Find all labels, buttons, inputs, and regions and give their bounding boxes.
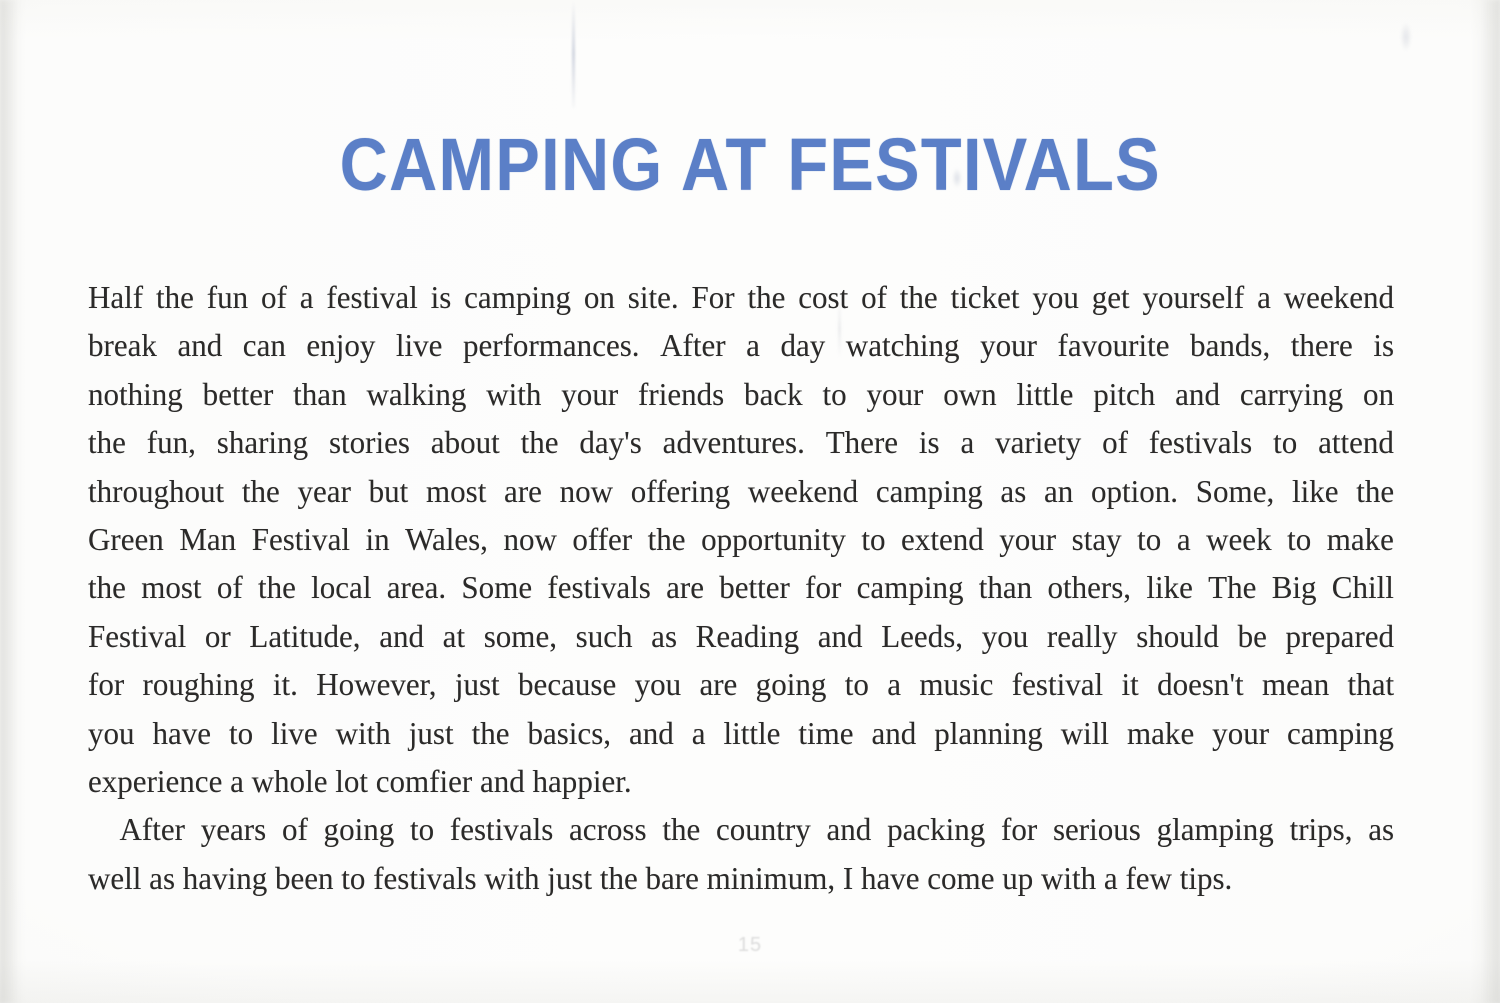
word: like — [1146, 564, 1193, 612]
word: Green — [88, 516, 164, 564]
word: own — [943, 371, 996, 419]
word: performances. — [463, 322, 640, 370]
word: most — [426, 468, 486, 516]
word: pitch — [1093, 371, 1155, 419]
word: variety — [995, 419, 1081, 467]
word: stories — [329, 419, 410, 467]
word: mean — [1262, 661, 1329, 709]
word: fun, — [147, 419, 196, 467]
word: a — [746, 322, 760, 370]
word: the — [648, 516, 686, 564]
word: your — [980, 322, 1037, 370]
word: Some, — [1196, 468, 1274, 516]
word: and — [871, 710, 916, 758]
word: extend — [901, 516, 984, 564]
word: better — [719, 564, 790, 612]
word: Reading — [696, 613, 799, 661]
word: cost — [798, 274, 848, 322]
text-line: themostofthelocalarea.Somefestivalsarebe… — [88, 564, 1394, 612]
word: because — [518, 661, 616, 709]
word: bands, — [1190, 322, 1270, 370]
word: really — [1047, 613, 1118, 661]
word: serious — [1053, 806, 1141, 854]
word: Festival — [88, 613, 186, 661]
word: back — [744, 371, 803, 419]
word: of — [217, 564, 243, 612]
word: the — [1356, 468, 1394, 516]
word: Wales, — [405, 516, 488, 564]
page-number: 15 — [0, 934, 1500, 957]
word: going — [324, 806, 395, 854]
word: ticket — [951, 274, 1020, 322]
word: the — [258, 564, 296, 612]
word: on — [1363, 371, 1394, 419]
word: weekend — [1284, 274, 1394, 322]
word: just — [455, 661, 500, 709]
word: now — [560, 468, 613, 516]
word: yourself — [1143, 274, 1245, 322]
word: about — [431, 419, 500, 467]
word: most — [141, 564, 201, 612]
word: area. — [387, 564, 446, 612]
word: year — [298, 468, 351, 516]
word: basics, — [527, 710, 611, 758]
word: and — [827, 806, 872, 854]
word: going — [756, 661, 827, 709]
word: live — [271, 710, 318, 758]
word: and — [177, 322, 222, 370]
word: weekend — [748, 468, 858, 516]
word: now — [503, 516, 556, 564]
word: and — [818, 613, 863, 661]
word: For — [691, 274, 734, 322]
word: the — [242, 468, 280, 516]
word: the — [88, 419, 126, 467]
word: Festival — [252, 516, 350, 564]
word: that — [1348, 661, 1395, 709]
word: is — [1373, 322, 1394, 370]
word: camping — [857, 564, 964, 612]
word: in — [365, 516, 389, 564]
word: planning — [934, 710, 1043, 758]
word: and — [629, 710, 674, 758]
word: your — [1212, 710, 1269, 758]
word: Some — [461, 564, 532, 612]
word: should — [1136, 613, 1219, 661]
word: nothing — [88, 371, 183, 419]
word: of — [282, 806, 308, 854]
word: of — [1102, 419, 1128, 467]
word: make — [1327, 516, 1394, 564]
word: make — [1127, 710, 1194, 758]
word: and — [1175, 371, 1220, 419]
word: a — [300, 274, 314, 322]
text-line: nothingbetterthanwalkingwithyourfriendsb… — [88, 371, 1394, 419]
word: to — [822, 371, 846, 419]
text-line: forroughingit.However,justbecauseyouareg… — [88, 661, 1394, 709]
word: Latitude, — [249, 613, 360, 661]
page-title: CAMPING AT FESTIVALS — [339, 128, 1160, 202]
word: like — [1292, 468, 1339, 516]
text-line: thefun,sharingstoriesabouttheday'sadvent… — [88, 419, 1394, 467]
word: are — [699, 661, 737, 709]
word: sharing — [217, 419, 308, 467]
word: can — [243, 322, 286, 370]
word: Man — [179, 516, 236, 564]
word: the — [662, 806, 700, 854]
word: watching — [846, 322, 960, 370]
word: across — [569, 806, 647, 854]
word: favourite — [1058, 322, 1170, 370]
word: on — [584, 274, 615, 322]
text-line: Afteryearsofgoingtofestivalsacrossthecou… — [88, 806, 1394, 854]
word: the — [521, 419, 559, 467]
word: are — [666, 564, 704, 612]
word: festival — [326, 274, 417, 322]
word: little — [723, 710, 780, 758]
word: festivals — [450, 806, 553, 854]
word: with — [336, 710, 391, 758]
word: for — [88, 661, 124, 709]
word: of — [261, 274, 287, 322]
word: option. — [1091, 468, 1178, 516]
word: camping — [464, 274, 571, 322]
word: a — [960, 419, 974, 467]
word: Big — [1272, 564, 1317, 612]
word: fun — [207, 274, 248, 322]
word: music — [919, 661, 993, 709]
word: opportunity — [701, 516, 846, 564]
word: such — [576, 613, 633, 661]
word: to — [1287, 516, 1311, 564]
title-block: CAMPING AT FESTIVALS — [0, 78, 1500, 251]
word: you — [1032, 274, 1079, 322]
word: will — [1061, 710, 1109, 758]
word: with — [486, 371, 541, 419]
word: prepared — [1286, 613, 1395, 661]
word: local — [311, 564, 371, 612]
word: it. — [273, 661, 298, 709]
word: the — [747, 274, 785, 322]
word: for — [805, 564, 841, 612]
word: better — [203, 371, 274, 419]
word: than — [293, 371, 346, 419]
word: doesn't — [1157, 661, 1244, 709]
word: the — [900, 274, 938, 322]
word: but — [369, 468, 409, 516]
text-line: GreenManFestivalinWales,nowoffertheoppor… — [88, 516, 1394, 564]
word: However, — [316, 661, 436, 709]
word: After — [660, 322, 725, 370]
word: After — [120, 806, 185, 854]
word: Half — [88, 274, 143, 322]
word: camping — [1287, 710, 1394, 758]
word: little — [1017, 371, 1074, 419]
word: roughing — [143, 661, 255, 709]
word: your — [866, 371, 923, 419]
word: are — [504, 468, 542, 516]
word: at — [443, 613, 465, 661]
word: There — [826, 419, 898, 467]
word: as — [651, 613, 677, 661]
word: attend — [1318, 419, 1394, 467]
word: camping — [876, 468, 983, 516]
word: a — [1177, 516, 1191, 564]
word: festival — [1012, 661, 1103, 709]
scanned-book-page: CAMPING AT FESTIVALS Halfthefunofafestiv… — [0, 0, 1500, 1003]
word: day — [780, 322, 825, 370]
word: enjoy — [306, 322, 375, 370]
text-line: well as having been to festivals with ju… — [88, 855, 1394, 903]
word: as — [1368, 806, 1394, 854]
word: years — [201, 806, 266, 854]
word: carrying — [1240, 371, 1343, 419]
word: adventures. — [663, 419, 805, 467]
word: day's — [579, 419, 641, 467]
word: to — [1137, 516, 1161, 564]
text-line: breakandcanenjoyliveperformances.Afterad… — [88, 322, 1394, 370]
word: time — [798, 710, 853, 758]
word: than — [979, 564, 1032, 612]
word: to — [861, 516, 885, 564]
word: site. — [628, 274, 679, 322]
word: just — [409, 710, 454, 758]
word: to — [410, 806, 434, 854]
word: is — [919, 419, 940, 467]
word: stay — [1072, 516, 1122, 564]
word: Leeds, — [881, 613, 963, 661]
word: live — [396, 322, 443, 370]
word: walking — [366, 371, 466, 419]
word: the — [88, 564, 126, 612]
body-text: Halfthefunofafestivaliscampingonsite.For… — [88, 274, 1414, 903]
word: to — [1273, 419, 1297, 467]
word: the — [472, 710, 510, 758]
word: throughout — [88, 468, 224, 516]
text-line: youhavetolivewithjustthebasics,andalittl… — [88, 710, 1394, 758]
word: others, — [1047, 564, 1131, 612]
word: some, — [484, 613, 557, 661]
word: festivals — [1149, 419, 1252, 467]
text-line: throughouttheyearbutmostarenowofferingwe… — [88, 468, 1394, 516]
word: the — [156, 274, 194, 322]
word: The — [1208, 564, 1256, 612]
text-line: experience a whole lot comfier and happi… — [88, 758, 1394, 806]
word: an — [1044, 468, 1073, 516]
word: break — [88, 322, 157, 370]
word: or — [205, 613, 231, 661]
word: a — [887, 661, 901, 709]
word: you — [982, 613, 1029, 661]
word: you — [635, 661, 682, 709]
word: for — [1001, 806, 1037, 854]
word: Chill — [1332, 564, 1394, 612]
word: it — [1121, 661, 1138, 709]
word: packing — [887, 806, 985, 854]
word: be — [1238, 613, 1267, 661]
word: glamping — [1157, 806, 1274, 854]
word: offer — [572, 516, 632, 564]
word: your — [999, 516, 1056, 564]
word: and — [379, 613, 424, 661]
word: is — [431, 274, 452, 322]
word: a — [692, 710, 706, 758]
word: to — [229, 710, 253, 758]
word: trips, — [1290, 806, 1353, 854]
word: get — [1092, 274, 1130, 322]
word: your — [561, 371, 618, 419]
word: as — [1000, 468, 1026, 516]
word: country — [716, 806, 811, 854]
word: you — [88, 710, 135, 758]
word: offering — [631, 468, 730, 516]
word: of — [861, 274, 887, 322]
word: there — [1291, 322, 1353, 370]
word: a — [1257, 274, 1271, 322]
text-line: Halfthefunofafestivaliscampingonsite.For… — [88, 274, 1394, 322]
word: friends — [638, 371, 724, 419]
word: week — [1206, 516, 1271, 564]
word: festivals — [547, 564, 650, 612]
word: have — [153, 710, 212, 758]
text-line: FestivalorLatitude,andatsome,suchasReadi… — [88, 613, 1394, 661]
word: to — [845, 661, 869, 709]
